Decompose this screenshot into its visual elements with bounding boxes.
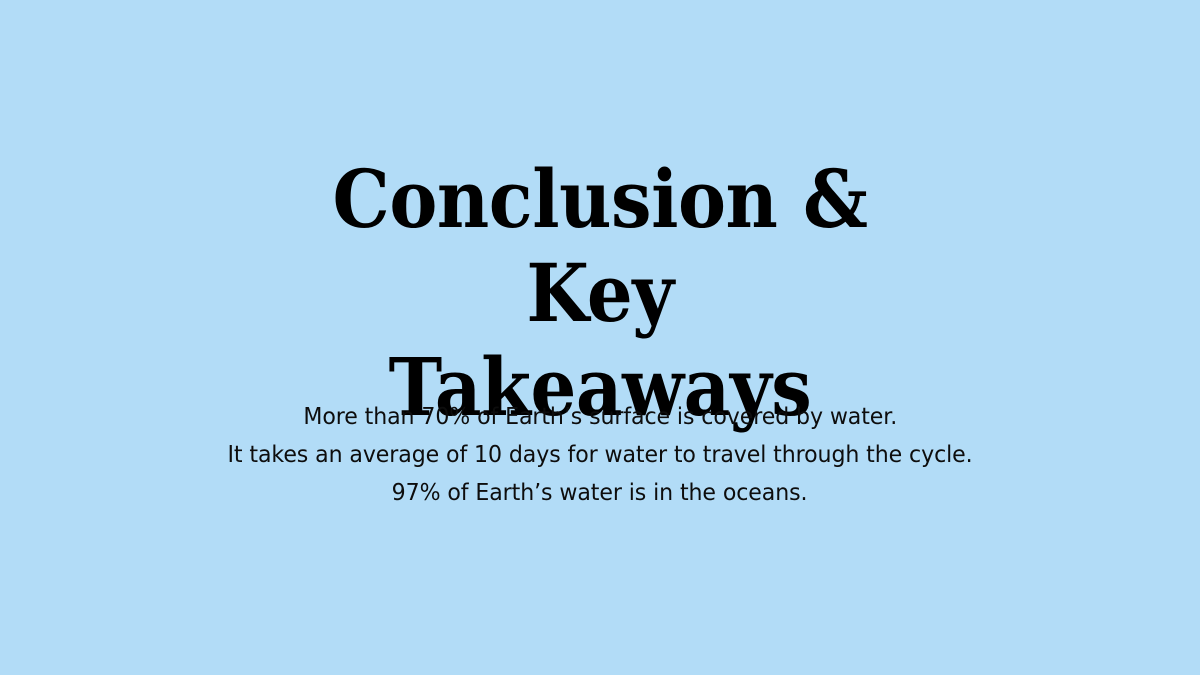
title-block: Conclusion & Key Takeaways xyxy=(0,152,1200,434)
body-line-3: 97% of Earth’s water is in the oceans. xyxy=(392,474,808,512)
body-line-2: It takes an average of 10 days for water… xyxy=(227,436,972,474)
body-line-1: More than 70% of Earth’s surface is cove… xyxy=(303,398,897,436)
page-title: Conclusion & Key Takeaways xyxy=(303,152,897,434)
slide-canvas: Conclusion & Key Takeaways More than 70%… xyxy=(0,0,1200,675)
body-text-block: More than 70% of Earth’s surface is cove… xyxy=(0,398,1200,512)
